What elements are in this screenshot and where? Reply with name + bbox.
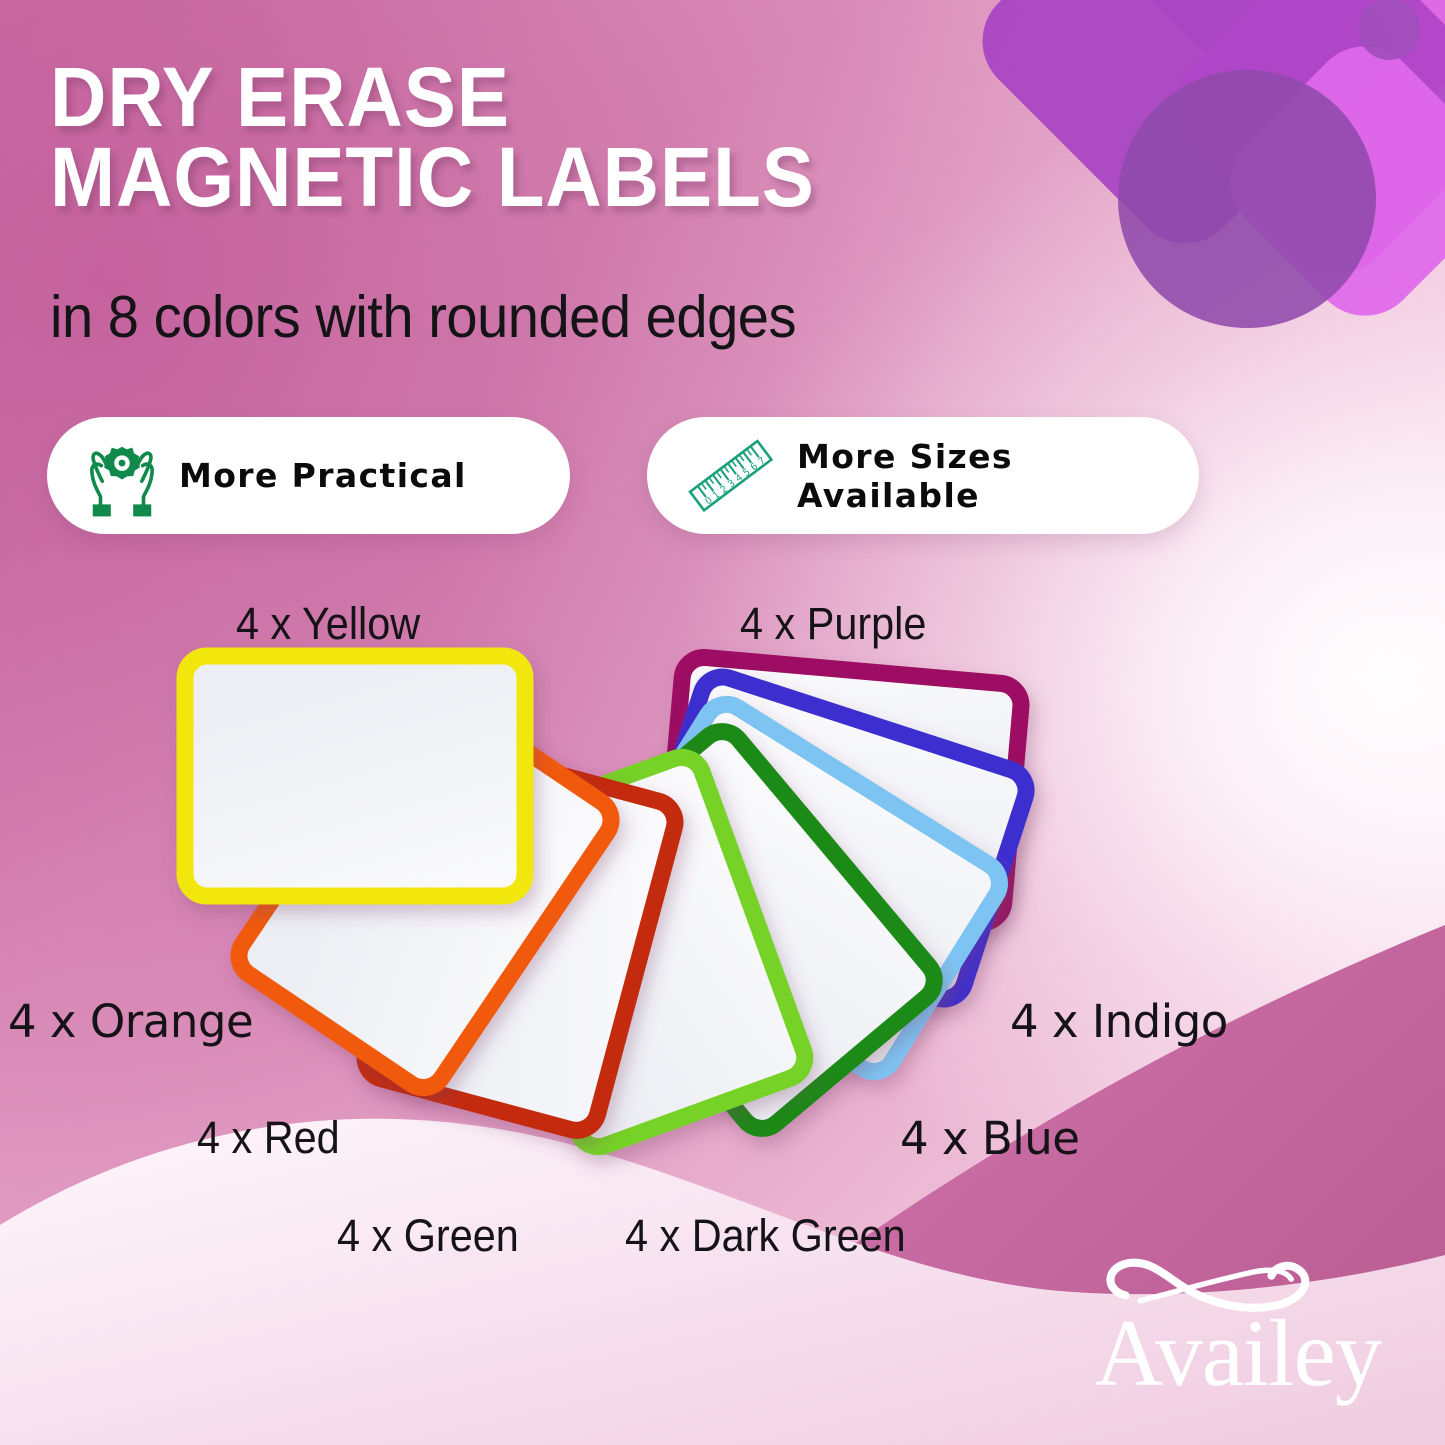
badge-more-sizes-available[interactable]: 012 345 67 More Sizes Available [647, 417, 1199, 534]
ruler-icon: 012 345 67 [679, 433, 783, 519]
caption-green: 4 x Green [337, 1210, 519, 1262]
decorative-shapes-cluster [970, 0, 1445, 430]
infographic-canvas: DRY ERASE MAGNETIC LABELS in 8 colors wi… [0, 0, 1445, 1445]
caption-dark-green: 4 x Dark Green [625, 1210, 906, 1262]
page-subtitle: in 8 colors with rounded edges [50, 283, 796, 351]
brand-logo: Availey [1068, 1262, 1408, 1422]
badge-label: More Sizes Available [797, 437, 1167, 515]
caption-red: 4 x Red [197, 1112, 340, 1164]
badge-label: More Practical [179, 456, 467, 495]
caption-blue: 4 x Blue [900, 1112, 1079, 1165]
brand-name: Availey [1068, 1306, 1408, 1401]
caption-orange: 4 x Orange [8, 995, 253, 1048]
caption-yellow: 4 x Yellow [236, 598, 420, 650]
caption-indigo: 4 x Indigo [1010, 995, 1228, 1048]
badge-more-practical[interactable]: More Practical [47, 417, 570, 534]
page-title: DRY ERASE MAGNETIC LABELS [50, 58, 915, 218]
decorative-circle-small [1358, 0, 1420, 60]
hands-holding-gear-icon [79, 433, 165, 519]
decorative-circle-large [1118, 70, 1376, 328]
caption-purple: 4 x Purple [740, 598, 926, 650]
